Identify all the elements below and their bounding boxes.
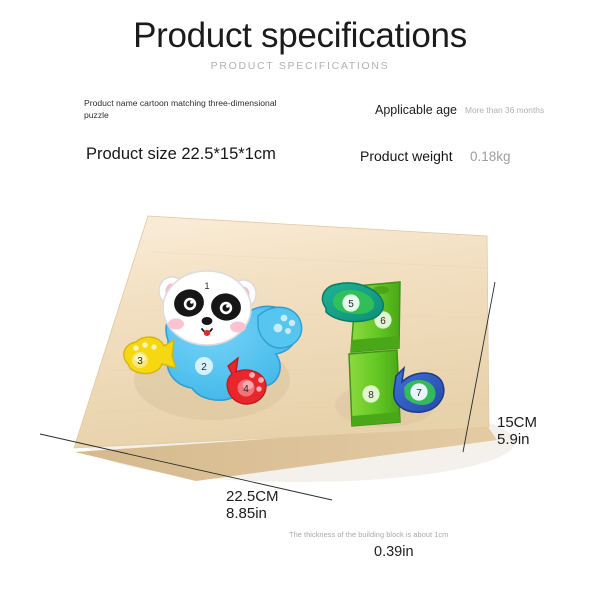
spec-product-name: Product name cartoon matching three-dime… — [84, 97, 299, 122]
page-subtitle: PRODUCT SPECIFICATIONS — [0, 60, 600, 72]
piece-number-1: 1 — [204, 281, 209, 291]
height-dimension-in: 5.9in — [497, 432, 537, 449]
thickness-note: The thickness of the building block is a… — [289, 530, 448, 539]
width-dimension-label: 22.5CM 8.85in — [226, 489, 279, 523]
piece-number-3: 3 — [137, 356, 143, 367]
height-dimension-cm: 15CM — [497, 415, 537, 432]
page-title: Product specifications — [0, 16, 600, 56]
spec-applicable-age-label: Applicable age — [375, 103, 457, 117]
spec-product-weight-value: 0.18kg — [470, 149, 511, 164]
panda-cheek-left — [168, 319, 184, 330]
piece-number-8: 8 — [368, 390, 374, 401]
spec-product-weight-label: Product weight — [360, 148, 453, 164]
piece-number-7: 7 — [416, 388, 422, 399]
width-dimension-in: 8.85in — [226, 506, 279, 523]
spec-product-size: Product size 22.5*15*1cm — [86, 145, 276, 164]
panda-eye-right-glint — [226, 305, 229, 308]
piece-number-5: 5 — [348, 299, 354, 310]
spec-applicable-age-value: More than 36 months — [465, 105, 544, 115]
product-photo: 1 3 — [0, 190, 600, 520]
product-spec-page: Product specifications PRODUCT SPECIFICA… — [0, 0, 600, 600]
panda-tongue — [204, 330, 210, 336]
panda-eye-left-glint — [190, 301, 193, 304]
puzzle-board-svg: 1 3 — [0, 190, 600, 520]
panda-nose — [202, 317, 213, 325]
puzzle-board-wrapper: 1 3 — [0, 190, 600, 520]
panda-cheek-right — [230, 322, 246, 333]
piece-number-6: 6 — [380, 316, 386, 327]
piece-number-4: 4 — [243, 384, 249, 395]
width-dimension-cm: 22.5CM — [226, 489, 279, 506]
piece-number-2: 2 — [201, 362, 207, 373]
thickness-inches: 0.39in — [374, 544, 414, 560]
height-dimension-label: 15CM 5.9in — [497, 415, 537, 449]
